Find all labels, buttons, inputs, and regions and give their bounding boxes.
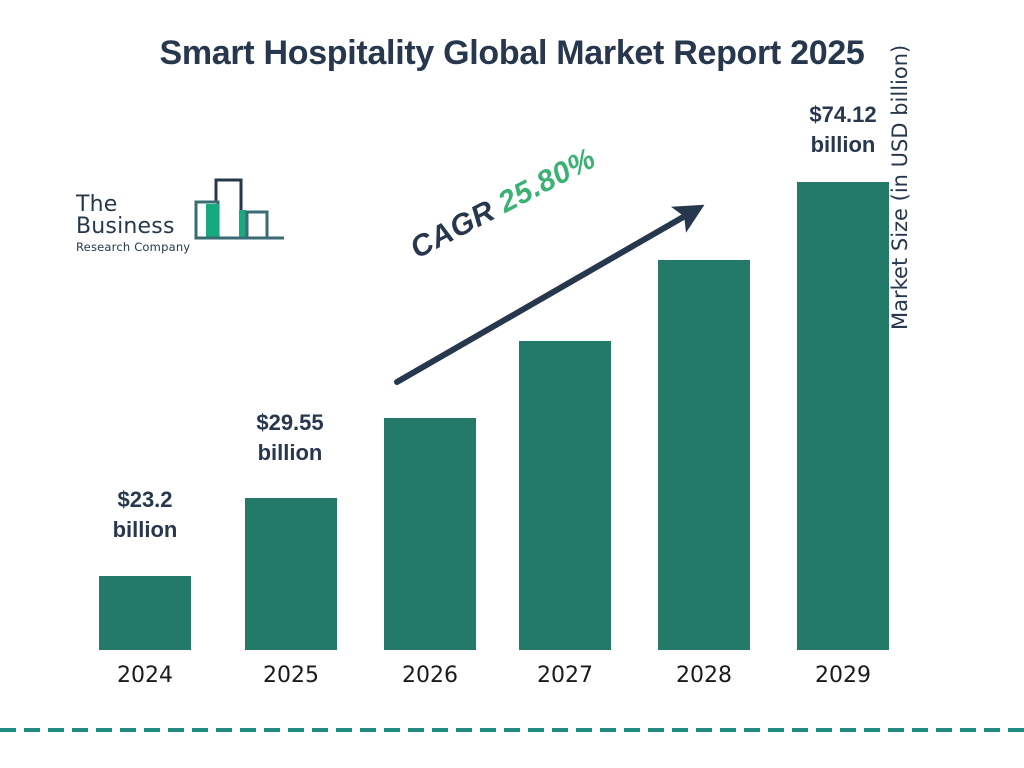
bar-value-2024: $23.2 billion <box>75 485 215 544</box>
bar-2029[interactable] <box>797 182 889 650</box>
bar-2028[interactable] <box>658 260 750 650</box>
bar-2025[interactable] <box>245 498 337 650</box>
x-axis-label-2027: 2027 <box>519 663 611 688</box>
bottom-divider <box>0 728 1024 732</box>
bar-value-2025-line1: $29.55 <box>215 408 365 438</box>
chart-page: Smart Hospitality Global Market Report 2… <box>0 0 1024 768</box>
bar-value-2024-line1: $23.2 <box>75 485 215 515</box>
bar-value-2025-line2: billion <box>215 438 365 468</box>
y-axis-title: Market Size (in USD billion) <box>888 0 912 330</box>
bar-chart-plot: CAGR 25.80% $23.2 billion $29.55 billion… <box>0 0 1024 768</box>
x-axis-label-2028: 2028 <box>658 663 750 688</box>
bar-2027[interactable] <box>519 341 611 650</box>
x-axis-label-2026: 2026 <box>384 663 476 688</box>
x-axis-label-2029: 2029 <box>797 663 889 688</box>
bar-value-2024-line2: billion <box>75 515 215 545</box>
x-axis-label-2024: 2024 <box>99 663 191 688</box>
x-axis-label-2025: 2025 <box>245 663 337 688</box>
bar-2024[interactable] <box>99 576 191 650</box>
bar-2026[interactable] <box>384 418 476 650</box>
bar-value-2025: $29.55 billion <box>215 408 365 467</box>
